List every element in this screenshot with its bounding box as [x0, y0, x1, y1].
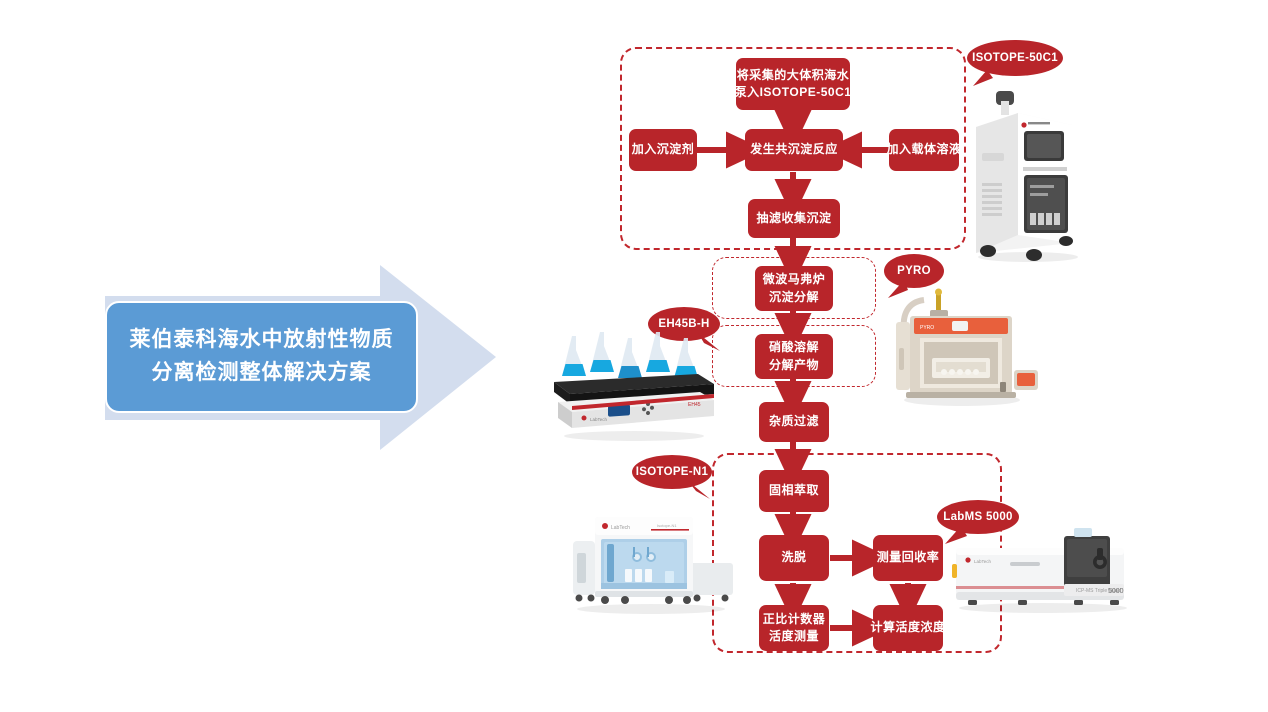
device-labms-5000-image: LabTech ICP-MS Triple Quad 5000: [948, 522, 1138, 614]
node-coprecipitation-label: 发生共沉淀反应: [750, 141, 838, 158]
node-filter-collect-label: 抽滤收集沉淀: [756, 210, 831, 227]
svg-text:Isotope-N1: Isotope-N1: [657, 523, 677, 528]
node-spe-label: 固相萃取: [769, 482, 819, 499]
svg-text:LabTech: LabTech: [590, 417, 608, 422]
node-filter-collect-precipitate[interactable]: 抽滤收集沉淀: [748, 199, 840, 238]
device-isotope-50c1-image: [960, 85, 1090, 265]
callout-isotope-50c1-label: ISOTOPE-50C1: [972, 52, 1058, 64]
node-add-carrier-label: 加入载体溶液: [887, 141, 962, 158]
callout-pyro-label: PYRO: [897, 265, 931, 277]
device-eh45b-h-image: LabTech EH45: [548, 330, 720, 442]
callout-isotope-n1-label: ISOTOPE-N1: [636, 466, 708, 478]
banner-title-card: 莱伯泰科海水中放射性物质 分离检测整体解决方案: [105, 301, 418, 413]
node-elution[interactable]: 洗脱: [759, 535, 829, 581]
callout-pyro[interactable]: PYRO: [884, 254, 944, 288]
node-muffle-line-1: 微波马弗炉: [763, 271, 826, 288]
svg-text:LabTech: LabTech: [974, 559, 992, 564]
node-elution-label: 洗脱: [781, 549, 806, 566]
node-add-precipitant-label: 加入沉淀剂: [632, 141, 695, 158]
device-isotope-n1-image: LabTech Isotope-N1: [565, 497, 737, 615]
banner-line-1: 莱伯泰科海水中放射性物质: [130, 324, 394, 357]
node-muffle-line-2: 沉淀分解: [769, 289, 819, 306]
node-add-precipitant[interactable]: 加入沉淀剂: [629, 129, 697, 171]
node-measure-recovery[interactable]: 测量回收率: [873, 535, 943, 581]
node-pump-line-2: 泵入ISOTOPE-50C1: [735, 84, 852, 101]
node-calculate-activity-concentration[interactable]: 计算活度浓度: [873, 605, 943, 651]
slide-canvas: 莱伯泰科海水中放射性物质 分离检测整体解决方案: [0, 0, 1268, 712]
node-pump-line-1: 将采集的大体积海水: [737, 67, 850, 84]
node-pump-seawater[interactable]: 将采集的大体积海水 泵入ISOTOPE-50C1: [736, 58, 850, 110]
node-activity-label: 计算活度浓度: [871, 619, 946, 636]
node-nitric-line-2: 分解产物: [769, 357, 819, 374]
node-add-carrier-solution[interactable]: 加入载体溶液: [889, 129, 959, 171]
node-counter-line-2: 活度测量: [769, 628, 819, 645]
callout-isotope-50c1[interactable]: ISOTOPE-50C1: [967, 40, 1063, 76]
callout-isotope-n1[interactable]: ISOTOPE-N1: [632, 455, 712, 489]
device-pyro-image: PYRO: [880, 288, 1040, 408]
node-solid-phase-extraction[interactable]: 固相萃取: [759, 470, 829, 512]
node-microwave-muffle-furnace[interactable]: 微波马弗炉 沉淀分解: [755, 266, 833, 311]
callout-eh45b-h-label: EH45B-H: [658, 318, 709, 330]
svg-text:PYRO: PYRO: [920, 325, 934, 331]
node-nitric-acid-dissolution[interactable]: 硝酸溶解 分解产物: [755, 334, 833, 379]
node-impurity-label: 杂质过滤: [769, 413, 819, 430]
node-impurity-filtration[interactable]: 杂质过滤: [759, 402, 829, 442]
node-coprecipitation-reaction[interactable]: 发生共沉淀反应: [745, 129, 843, 171]
banner-line-2: 分离检测整体解决方案: [152, 357, 372, 390]
svg-text:EH45: EH45: [688, 402, 701, 408]
svg-text:5000: 5000: [1108, 588, 1124, 595]
node-recovery-label: 测量回收率: [877, 549, 940, 566]
node-nitric-line-1: 硝酸溶解: [769, 339, 819, 356]
svg-text:LabTech: LabTech: [611, 525, 630, 531]
node-counter-line-1: 正比计数器: [763, 611, 826, 628]
node-proportional-counter[interactable]: 正比计数器 活度测量: [759, 605, 829, 651]
